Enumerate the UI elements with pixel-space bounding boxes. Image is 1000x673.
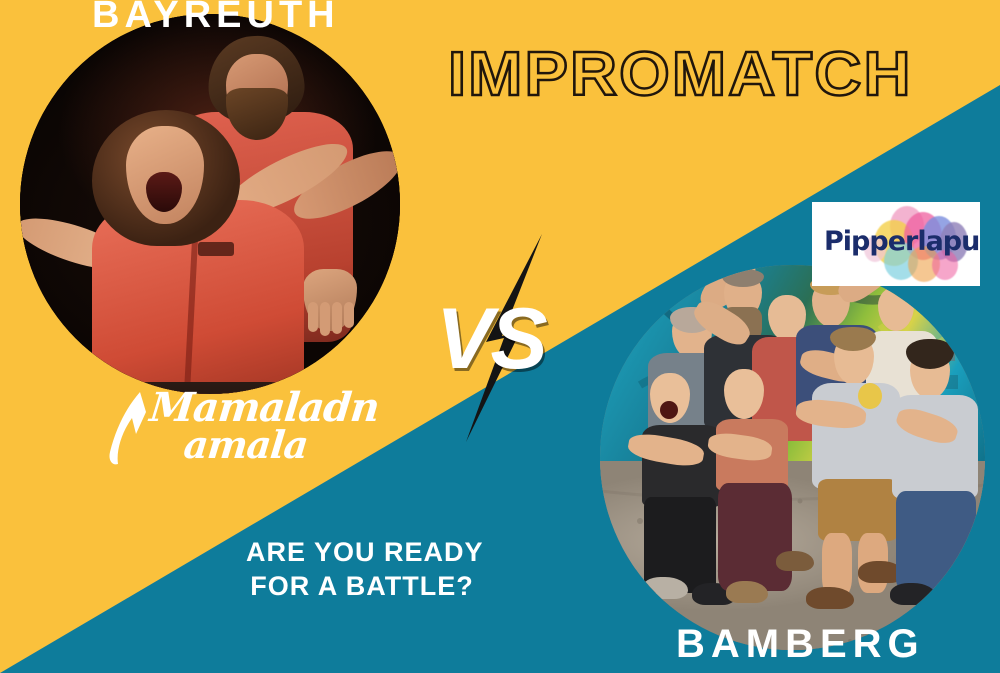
shoe (806, 587, 854, 609)
shorts (818, 479, 898, 541)
mamaladn-logo-line2: amala (182, 426, 310, 464)
page-title: IMPROMATCH (448, 44, 913, 106)
hand-finger (332, 302, 342, 334)
jeans (896, 491, 976, 591)
legs (718, 483, 792, 591)
hand-finger (308, 302, 318, 332)
pipperlapupp-logo-text: Pipperlapupp (824, 228, 980, 255)
shoe (726, 581, 768, 603)
versus-label: VS (436, 296, 545, 382)
bayreuth-team-photo (20, 14, 400, 394)
shoe (642, 577, 688, 599)
tagline-line1: ARE YOU READY (246, 536, 478, 570)
hand-finger (344, 302, 354, 328)
pipperlapupp-logo: Pipperlapupp (812, 202, 980, 286)
shoe (890, 583, 936, 605)
shirt-print (858, 383, 882, 409)
bayreuth-city-label: BAYREUTH (92, 0, 340, 34)
torso (812, 383, 900, 489)
bamberg-team-photo (600, 265, 985, 650)
hand-finger (320, 302, 330, 336)
shirt-logo-badge (198, 242, 234, 256)
tagline-line2: FOR A BATTLE? (246, 570, 478, 604)
tagline: ARE YOU READY FOR A BATTLE? (246, 536, 478, 604)
versus-graphic: VS (430, 228, 620, 448)
bamberg-city-label: BAMBERG (676, 624, 925, 664)
mamaladn-amala-logo: Mamaladn amala (106, 386, 336, 478)
shoe (776, 551, 814, 571)
impromatch-poster: BAYREUTH Mamaladn amala IMPROMATCH VS Pi… (0, 0, 1000, 673)
open-mouth (660, 401, 678, 419)
logo-swoosh-icon (106, 390, 152, 468)
